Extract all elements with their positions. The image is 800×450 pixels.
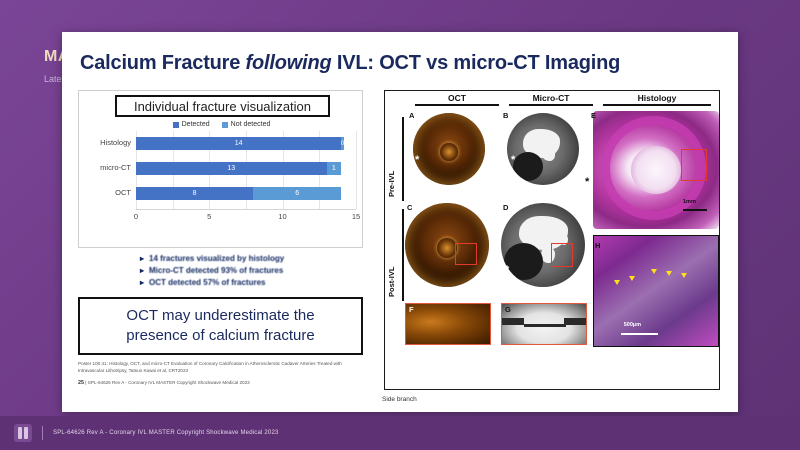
bar-value-histology-not-detected: 0 [341,141,344,147]
bullet-dot-icon: ▸ [140,278,144,288]
legend-item-detected: Detected [173,121,210,128]
shockwave-logo-icon [14,424,32,442]
bar-value-oct-detected: 8 [193,190,197,197]
bar-row-histology: 14 0 [136,137,356,150]
bar-seg-histology-not-detected: 0 [341,137,344,150]
bullet-text-2: Micro-CT detected 93% of fractures [149,266,283,275]
row-label-pre-ivl: Pre-IVL [387,125,396,197]
bar-seg-oct-not-detected: 6 [253,187,341,200]
roi-box-microct-post [551,243,573,267]
bullet-dot-icon: ▸ [140,266,144,276]
conclusion-callout: OCT may underestimate the presence of ca… [78,297,363,355]
scale-bar-500um [621,333,658,335]
panel-letter-d: D [503,203,508,212]
scale-bar-label-500um: 500µm [624,322,641,328]
chart-bars: 14 0 13 1 [136,131,356,209]
row-rule-post [402,209,404,301]
callout-line-2: presence of calcium fracture [126,326,314,346]
bar-value-oct-not-detected: 6 [295,190,299,197]
chart-plot-area: 14 0 13 1 [79,131,364,231]
scale-bar-1mm [683,209,707,211]
list-item: ▸ OCT detected 57% of fractures [140,278,374,288]
x-tick-15: 15 [352,212,360,221]
list-item: ▸ 14 fractures visualized by histology [140,254,374,264]
bar-row-oct: 8 6 [136,187,356,200]
chart-category-oct: OCT [79,188,131,197]
chart-legend: Detected Not detected [79,121,364,128]
bar-seg-microct-detected: 13 [136,162,327,175]
image-panel-h-histology-zoom: 500µm [593,235,719,347]
bullet-dot-icon: ▸ [140,254,144,264]
panel-letter-c: C [407,203,412,212]
title-part-1: Calcium Fracture [80,52,246,74]
bar-value-microct-not-detected: 1 [332,165,336,172]
slide-footer: 25 | SPL-64626 Rev A - Coronary IVL MAST… [78,380,374,386]
chart-category-histology: Histology [79,138,131,147]
x-tick-10: 10 [278,212,286,221]
x-tick-5: 5 [207,212,211,221]
roi-box-histology [681,149,707,181]
citation-text: Poster 100.41: Histology, OCT, and micro… [78,361,368,375]
asterisk-marker-e: * [585,177,589,188]
image-panel-f-oct-inset [405,303,491,345]
deck-footer-bar: SPL-64626 Rev A - Coronary IVL MASTER Co… [0,416,800,450]
legend-swatch-not-detected [222,122,228,128]
imaging-figure-panel: OCT Micro-CT Histology Pre-IVL Post-IVL … [384,90,720,390]
bar-seg-oct-detected: 8 [136,187,253,200]
chart-title-box: Individual fracture visualization [115,95,330,117]
panel-letter-e: E [591,111,596,120]
asterisk-marker-d: * [505,265,509,276]
x-tick-0: 0 [134,212,138,221]
panel-letter-g: G [505,305,511,314]
legend-item-not-detected: Not detected [222,121,271,128]
bullet-text-3: OCT detected 57% of fractures [149,278,265,287]
chart-title: Individual fracture visualization [134,99,311,114]
asterisk-marker-c: * [407,265,411,276]
side-branch-annotation: Side branch [382,396,417,403]
asterisk-marker-a: * [415,155,419,166]
row-label-post-ivl: Post-IVL [387,219,396,297]
screenshot-root: MASTER Latest Clinical Evidence Calcium … [0,0,800,450]
fracture-visualization-chart: Individual fracture visualization Detect… [78,90,363,248]
image-panel-b-microct-pre [507,113,579,185]
chart-x-axis: 0 5 10 15 [136,209,356,225]
slide-canvas: Calcium Fracture following IVL: OCT vs m… [62,32,738,412]
chart-category-microct: micro-CT [79,163,131,172]
scale-bar-label-1mm: 1mm [683,199,696,205]
bullet-list: ▸ 14 fractures visualized by histology ▸… [78,254,374,288]
bar-seg-histology-detected: 14 [136,137,341,150]
image-panel-a-oct-pre [413,113,485,185]
column-header-histology: Histology [603,93,711,106]
bar-value-histology-detected: 14 [235,140,243,147]
deck-footer-text: SPL-64626 Rev A - Coronary IVL MASTER Co… [53,430,279,436]
panel-letter-a: A [409,111,414,120]
slide-footer-text: | SPL-64626 Rev A - Coronary IVL MASTER … [85,380,249,385]
bar-row-microct: 13 1 [136,162,356,175]
bar-value-microct-detected: 13 [227,165,235,172]
panel-letter-f: F [409,305,414,314]
roi-box-oct-post [455,243,477,265]
legend-swatch-detected [173,122,179,128]
legend-label-not-detected: Not detected [231,121,271,128]
bar-seg-microct-not-detected: 1 [327,162,342,175]
panel-letter-b: B [503,111,508,120]
title-emphasis: following [246,52,332,74]
left-column: Individual fracture visualization Detect… [78,90,374,386]
callout-line-1: OCT may underestimate the [126,306,314,326]
bullet-text-1: 14 fractures visualized by histology [149,254,284,263]
page-title: Calcium Fracture following IVL: OCT vs m… [80,52,720,75]
panel-letter-h: H [595,241,600,250]
row-rule-pre [402,117,404,201]
slide-number: 25 [78,380,84,386]
legend-label-detected: Detected [182,121,210,128]
asterisk-marker-b: * [511,155,515,166]
column-header-microct: Micro-CT [509,93,593,106]
footer-divider [42,426,43,440]
image-panel-g-microct-inset [501,303,587,345]
column-header-oct: OCT [415,93,499,106]
title-part-2: IVL: OCT vs micro-CT Imaging [332,52,621,74]
figure-column-headers: OCT Micro-CT Histology [407,93,717,109]
list-item: ▸ Micro-CT detected 93% of fractures [140,266,374,276]
